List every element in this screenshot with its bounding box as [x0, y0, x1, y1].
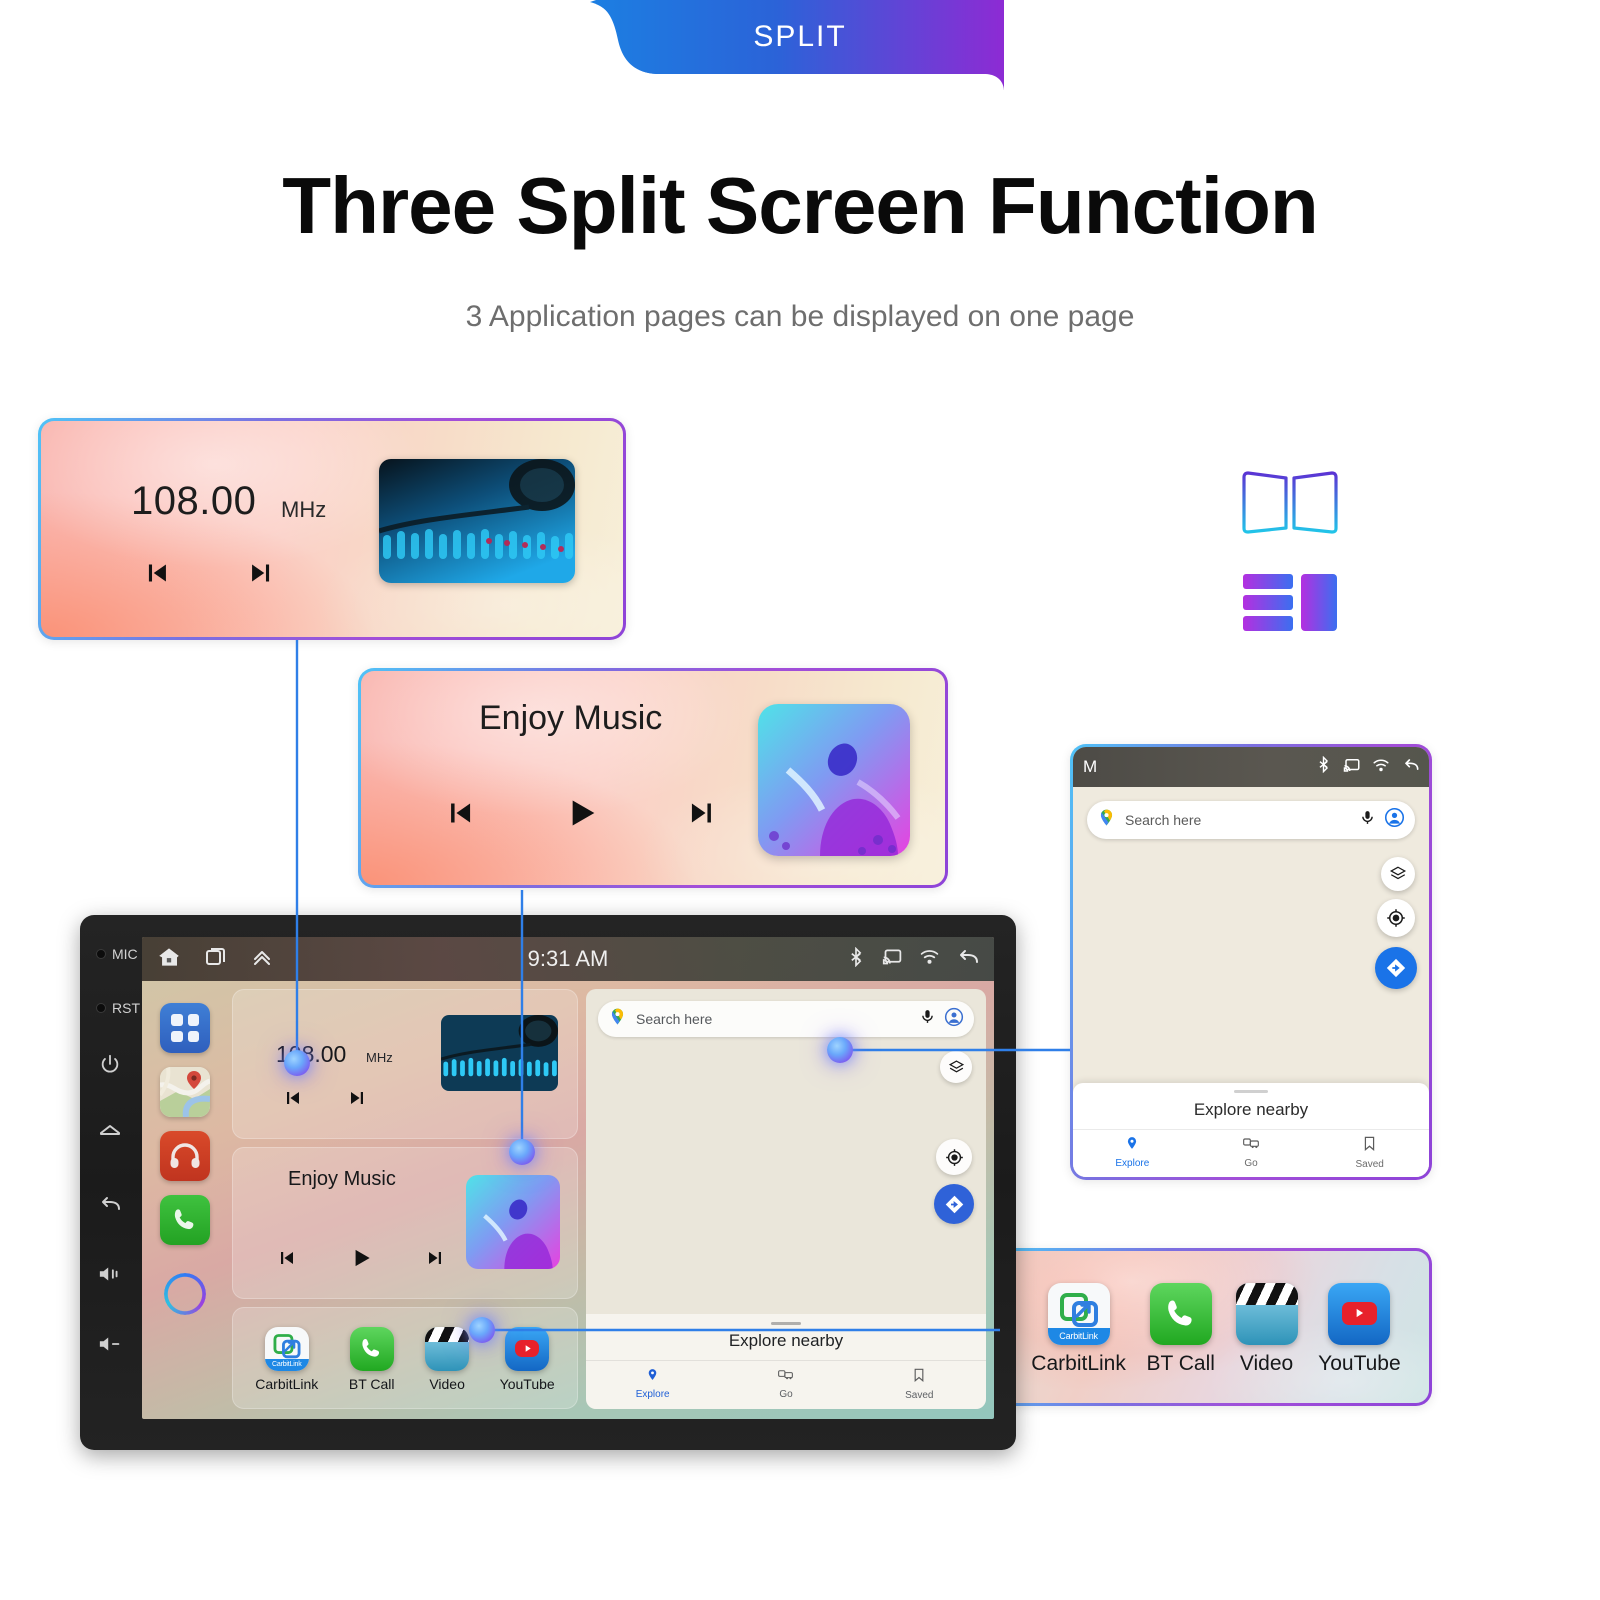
maps-status-bar: M: [1073, 747, 1429, 787]
app-carbitlink[interactable]: CarbitLink CarbitLink: [1031, 1283, 1126, 1376]
app-label: BT Call: [1146, 1352, 1214, 1376]
video-clapperboard-icon: [425, 1327, 469, 1371]
apps-dock-popup-card: CarbitLink CarbitLink BT Call Video: [1000, 1248, 1432, 1406]
music-title: Enjoy Music: [479, 699, 662, 738]
bezel-label: RST: [112, 1000, 140, 1016]
tab-go[interactable]: Go: [1192, 1136, 1311, 1170]
tab-label: Saved: [1356, 1159, 1384, 1170]
back-icon[interactable]: [1401, 755, 1421, 780]
callout-dot-radio: [284, 1050, 310, 1076]
radio-artwork-thumbnail: [379, 459, 575, 583]
radio-frequency-unit: MHz: [281, 497, 326, 523]
bookmark-icon: [1363, 1136, 1376, 1156]
google-maps-pin-icon: [608, 1007, 627, 1031]
head-unit-screen: 9:31 AM: [142, 937, 994, 1419]
skip-previous-icon[interactable]: [439, 793, 479, 833]
hu-maps-pane[interactable]: Search here: [586, 989, 986, 1409]
sheet-title: Explore nearby: [1073, 1093, 1429, 1129]
play-icon[interactable]: [348, 1245, 374, 1276]
carbitlink-badge: CarbitLink: [1048, 1328, 1110, 1344]
app-youtube[interactable]: YouTube: [1318, 1283, 1401, 1376]
tab-label: Explore: [1115, 1158, 1149, 1169]
tab-saved[interactable]: Saved: [1310, 1136, 1429, 1170]
hu-maps-search-bar[interactable]: Search here: [598, 1001, 974, 1037]
split-layout-filled-icon: [1241, 572, 1339, 639]
hu-radio-unit: MHz: [366, 1050, 393, 1065]
phone-icon[interactable]: [160, 1195, 210, 1245]
hu-radio-thumbnail: [441, 1015, 558, 1091]
microphone-icon[interactable]: [1359, 809, 1376, 831]
navigate-icon[interactable]: [1375, 947, 1417, 989]
youtube-icon: [1328, 1283, 1390, 1345]
wifi-icon: [1372, 756, 1390, 779]
tab-label: Explore: [636, 1389, 670, 1400]
app-label: CarbitLink: [255, 1376, 318, 1392]
chevron-up-icon[interactable]: [250, 945, 274, 974]
hu-sheet-title: Explore nearby: [586, 1325, 986, 1360]
bookmark-icon: [913, 1368, 925, 1387]
cast-icon: [1343, 756, 1361, 779]
app-video[interactable]: Video: [1236, 1283, 1298, 1376]
app-label: YouTube: [500, 1376, 555, 1392]
account-circle-icon[interactable]: [944, 1007, 964, 1032]
skip-next-icon[interactable]: [424, 1246, 448, 1275]
maps-bottom-sheet: Explore nearby Explore Go: [1073, 1083, 1429, 1177]
tab-label: Go: [1244, 1158, 1257, 1169]
skip-previous-icon[interactable]: [274, 1246, 298, 1275]
carbitlink-badge: CarbitLink: [265, 1359, 309, 1370]
maps-icon[interactable]: [160, 1067, 210, 1117]
home-icon[interactable]: [156, 944, 182, 975]
callout-dot-music: [509, 1139, 535, 1165]
account-circle-icon[interactable]: [1384, 807, 1405, 833]
skip-next-icon[interactable]: [242, 553, 282, 593]
banner-label: SPLIT: [0, 20, 1600, 54]
youtube-icon: [505, 1327, 549, 1371]
hu-app-video[interactable]: Video: [425, 1327, 469, 1392]
place-pin-icon: [646, 1368, 659, 1386]
navigate-icon[interactable]: [934, 1184, 974, 1224]
phone-icon: [1150, 1283, 1212, 1345]
carbitlink-icon: CarbitLink: [1048, 1283, 1110, 1345]
tab-label: Go: [779, 1389, 792, 1400]
skip-next-icon[interactable]: [346, 1086, 370, 1115]
page-subtitle: 3 Application pages can be displayed on …: [0, 300, 1600, 334]
wifi-icon: [919, 946, 940, 972]
tab-go[interactable]: Go: [719, 1368, 852, 1401]
hu-maps-bottom-sheet: Explore nearby Explore Go: [586, 1314, 986, 1409]
microphone-icon[interactable]: [919, 1008, 936, 1030]
maps-popup-card: M: [1070, 744, 1432, 1180]
radio-frequency: 108.00: [131, 479, 256, 524]
tab-explore[interactable]: Explore: [586, 1368, 719, 1401]
callout-dot-maps: [827, 1037, 853, 1063]
recents-icon[interactable]: [204, 945, 228, 974]
apps-grid-icon[interactable]: [160, 1003, 210, 1053]
hu-search-input[interactable]: Search here: [636, 1011, 919, 1027]
skip-previous-icon[interactable]: [280, 1086, 304, 1115]
layers-icon[interactable]: [940, 1051, 972, 1083]
page-title: Three Split Screen Function: [0, 160, 1600, 252]
commute-icon: [778, 1368, 793, 1386]
maps-search-bar[interactable]: Search here: [1087, 801, 1415, 839]
split-screen-outline-icon: [1240, 470, 1340, 541]
hu-music-pane[interactable]: Enjoy Music: [232, 1147, 578, 1299]
commute-icon: [1243, 1136, 1259, 1155]
app-label: BT Call: [349, 1376, 395, 1392]
back-icon[interactable]: [956, 945, 980, 974]
callout-dot-dock: [469, 1317, 495, 1343]
app-label: Video: [1240, 1352, 1293, 1376]
split-banner: SPLIT: [0, 0, 1600, 90]
my-location-icon[interactable]: [936, 1139, 972, 1175]
skip-next-icon[interactable]: [683, 793, 723, 833]
music-headphones-icon[interactable]: [160, 1131, 210, 1181]
car-head-unit: MIC RST: [80, 915, 1016, 1450]
app-label: YouTube: [1318, 1352, 1401, 1376]
hu-app-bt-call[interactable]: BT Call: [349, 1327, 395, 1392]
skip-previous-icon[interactable]: [136, 553, 176, 593]
tab-explore[interactable]: Explore: [1073, 1136, 1192, 1170]
carbitlink-icon: CarbitLink: [265, 1327, 309, 1371]
app-bt-call[interactable]: BT Call: [1146, 1283, 1214, 1376]
hu-sidebar: [142, 981, 228, 1419]
hu-app-carbitlink[interactable]: CarbitLink CarbitLink: [255, 1327, 318, 1392]
cast-icon: [882, 946, 903, 972]
hu-content: 108.00 MHz: [228, 981, 994, 1419]
phone-icon: [350, 1327, 394, 1371]
tab-saved[interactable]: Saved: [853, 1368, 986, 1401]
play-icon[interactable]: [561, 793, 601, 833]
app-label: Video: [429, 1376, 465, 1392]
hu-status-bar: 9:31 AM: [142, 937, 994, 981]
bluetooth-icon: [846, 947, 866, 972]
video-clapperboard-icon: [1236, 1283, 1298, 1345]
radio-popup-card: 108.00 MHz: [38, 418, 626, 640]
hu-app-youtube[interactable]: YouTube: [500, 1327, 555, 1392]
bluetooth-icon: [1315, 756, 1332, 778]
music-popup-card: Enjoy Music: [358, 668, 948, 888]
layers-icon[interactable]: [1381, 857, 1415, 891]
hu-dock-pane[interactable]: CarbitLink CarbitLink BT Call: [232, 1307, 578, 1409]
place-pin-icon: [1125, 1136, 1139, 1155]
maps-status-clock: M: [1083, 757, 1097, 777]
album-art: [758, 704, 910, 856]
my-location-icon[interactable]: [1377, 899, 1415, 937]
bezel-label: MIC: [112, 946, 138, 962]
assistant-ring-icon[interactable]: [164, 1273, 206, 1315]
hu-album-art: [466, 1175, 560, 1269]
search-input[interactable]: Search here: [1125, 812, 1359, 828]
google-maps-pin-icon: [1097, 808, 1116, 832]
app-label: CarbitLink: [1031, 1352, 1126, 1376]
tab-label: Saved: [905, 1390, 933, 1401]
